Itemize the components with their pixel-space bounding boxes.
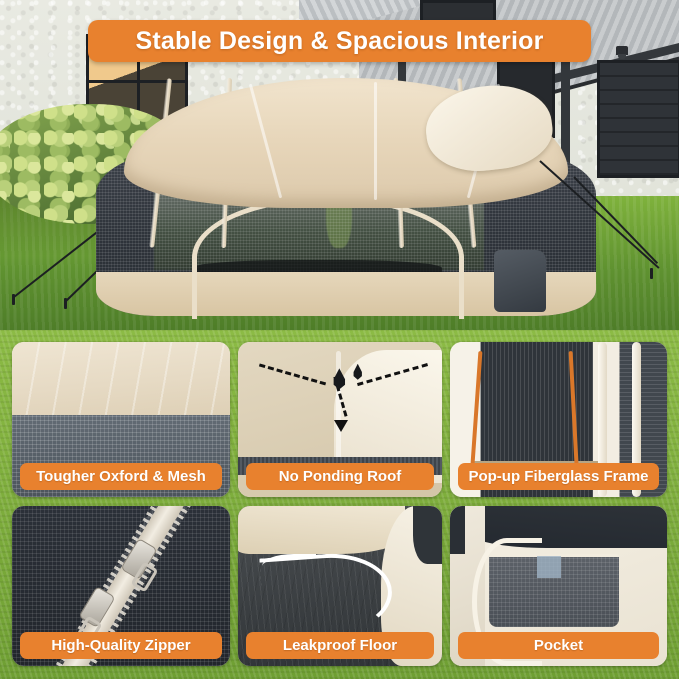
- feature-label-text: Tougher Oxford & Mesh: [36, 468, 206, 485]
- feature-card-leakproof-floor[interactable]: Leakproof Floor: [238, 506, 442, 666]
- hero-image: Stable Design & Spacious Interior: [0, 0, 679, 330]
- canopy-seam-1: [249, 84, 282, 199]
- feature-card-fiberglass-frame[interactable]: Pop-up Fiberglass Frame: [450, 342, 667, 497]
- feature-label-text: Pocket: [534, 637, 583, 654]
- feature-label-leakproof-floor: Leakproof Floor: [246, 632, 434, 659]
- feature-label-pocket: Pocket: [458, 632, 659, 659]
- tent-door-arch: [192, 196, 464, 319]
- feature-label-oxford-mesh: Tougher Oxford & Mesh: [20, 463, 222, 490]
- canopy-seam-2: [374, 82, 377, 200]
- product-feature-image: Stable Design & Spacious Interior Toughe…: [0, 0, 679, 679]
- oxford-fabric-swatch: [12, 342, 230, 415]
- feature-card-zipper[interactable]: High-Quality Zipper: [12, 506, 230, 666]
- runoff-arrow-icon: [334, 420, 348, 432]
- pocket-mesh-left: [450, 506, 465, 554]
- feature-label-fiberglass-frame: Pop-up Fiberglass Frame: [458, 463, 659, 490]
- feature-card-pocket[interactable]: Pocket: [450, 506, 667, 666]
- floor-curve-highlight-2: [262, 554, 315, 574]
- feature-grid: Tougher Oxford & Mesh No Ponding Roof: [0, 330, 679, 679]
- feature-label-text: Leakproof Floor: [283, 637, 397, 654]
- feature-label-no-ponding-roof: No Ponding Roof: [246, 463, 434, 490]
- wall-lamp-icon-2: [616, 46, 628, 55]
- feature-label-text: No Ponding Roof: [279, 468, 401, 485]
- feature-card-oxford-mesh[interactable]: Tougher Oxford & Mesh: [12, 342, 230, 497]
- feature-card-no-ponding-roof[interactable]: No Ponding Roof: [238, 342, 442, 497]
- floor-wall-top: [238, 506, 405, 554]
- tent-stake-right-1: [650, 268, 653, 279]
- tent-stake-left-2: [64, 298, 67, 309]
- tent-stake-left-1: [12, 294, 15, 305]
- hero-banner: Stable Design & Spacious Interior: [88, 20, 591, 62]
- hero-banner-text: Stable Design & Spacious Interior: [135, 27, 543, 56]
- garage-door: [597, 60, 679, 178]
- feature-label-text: High-Quality Zipper: [51, 637, 190, 654]
- roof-seam: [336, 351, 341, 466]
- floor-mesh-corner: [413, 506, 442, 564]
- feature-label-text: Pop-up Fiberglass Frame: [468, 468, 648, 485]
- feature-label-zipper: High-Quality Zipper: [20, 632, 222, 659]
- tent-side-door: [494, 250, 546, 312]
- screen-house-tent: [96, 78, 596, 316]
